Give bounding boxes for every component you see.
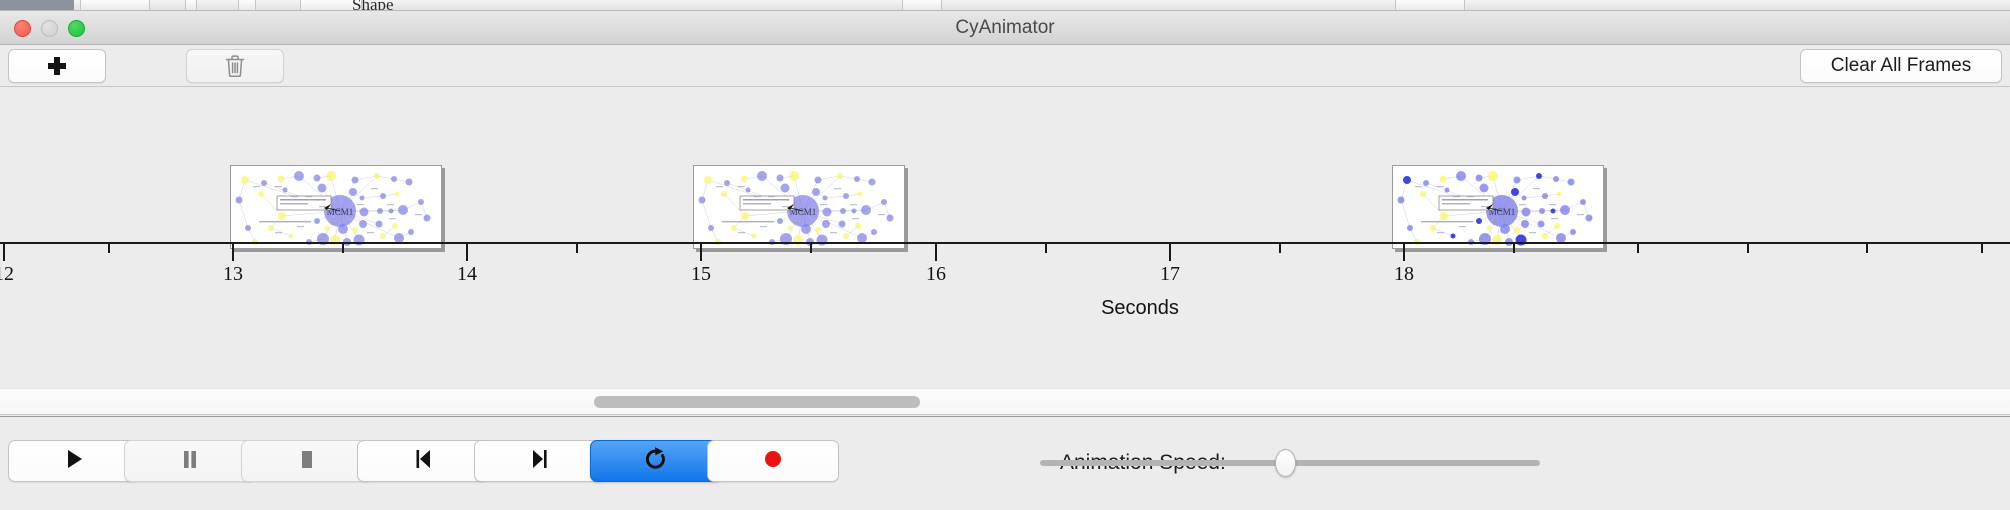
window-title: CyAnimator [0,11,2010,45]
frames-toolbar: Clear All Frames [0,45,2010,87]
timeline-scrollbar[interactable] [0,388,2010,414]
add-frame-button[interactable] [8,49,106,83]
animation-speed-slider[interactable] [1040,460,1540,466]
trash-icon [224,54,246,78]
plus-icon [47,56,67,76]
frame-thumbnail-1[interactable]: MCM1 [230,165,442,249]
background-chip-1 [80,0,150,11]
background-chip-3 [238,0,256,11]
timeline-tick-label: 15 [691,263,711,286]
play-button[interactable] [8,440,140,482]
skip-to-start-button[interactable] [357,440,489,482]
timeline-tick-minor [1981,244,1983,253]
timeline-tick-major [935,244,937,261]
background-window-strip: Shape [0,0,2010,11]
animation-speed-slider-thumb[interactable] [1275,449,1296,477]
timeline-tick-label: 17 [1160,263,1180,286]
stop-icon [294,446,320,477]
background-chip-6 [1395,0,1465,11]
timeline-tick-minor [576,244,578,253]
timeline-panel[interactable]: MCM1MCM1MCM1 12131415161718 Seconds [0,87,2010,415]
clear-all-frames-button[interactable]: Clear All Frames [1800,49,2002,83]
title-bar: CyAnimator [0,11,2010,45]
timeline-tick-minor [342,244,344,253]
timeline-tick-major [700,244,702,261]
timeline-tick-major [1403,244,1405,261]
timeline-tick-minor [1513,244,1515,253]
timeline-tick-major [1169,244,1171,261]
cyanimator-window: Shape CyAnimator Clear All Frames MCM1MC… [0,0,2010,510]
record-icon [760,446,786,477]
background-chip-2 [185,0,197,11]
timeline-tick-label: 14 [457,263,477,286]
timeline-tick-minor [1866,244,1868,253]
timeline-tick-minor [1747,244,1749,253]
playback-bar: Animation Speed: [0,416,2010,510]
timeline-tick-major [466,244,468,261]
background-window-label: Shape [352,0,394,11]
skip-forward-icon [527,446,553,477]
pause-button[interactable] [124,440,256,482]
axis-title: Seconds [1101,297,1179,320]
timeline-tick-major [3,244,5,261]
timeline-tick-label: 18 [1394,263,1414,286]
skip-to-end-button[interactable] [474,440,606,482]
skip-back-icon [410,446,436,477]
frame-thumbnail-2[interactable]: MCM1 [693,165,905,249]
timeline-tick-minor [810,244,812,253]
background-chip-5 [902,0,942,11]
timeline-ruler [0,242,2010,244]
timeline-tick-label: 12 [0,263,14,286]
timeline-tick-major [232,244,234,261]
background-window-titlebar-chip [0,0,74,11]
frame-thumbnail-3[interactable]: MCM1 [1392,165,1604,249]
record-button[interactable] [707,440,839,482]
play-icon [61,446,87,477]
stop-button[interactable] [241,440,373,482]
timeline-tick-minor [1279,244,1281,253]
loop-icon [643,446,669,477]
timeline-tick-label: 13 [223,263,243,286]
loop-button[interactable] [590,440,722,482]
timeline-tick-minor [1637,244,1639,253]
timeline-tick-label: 16 [926,263,946,286]
timeline-tick-minor [108,244,110,253]
timeline-scrollbar-thumb[interactable] [594,396,920,408]
pause-icon [177,446,203,477]
timeline-tick-minor [1045,244,1047,253]
delete-frame-button[interactable] [186,49,284,83]
